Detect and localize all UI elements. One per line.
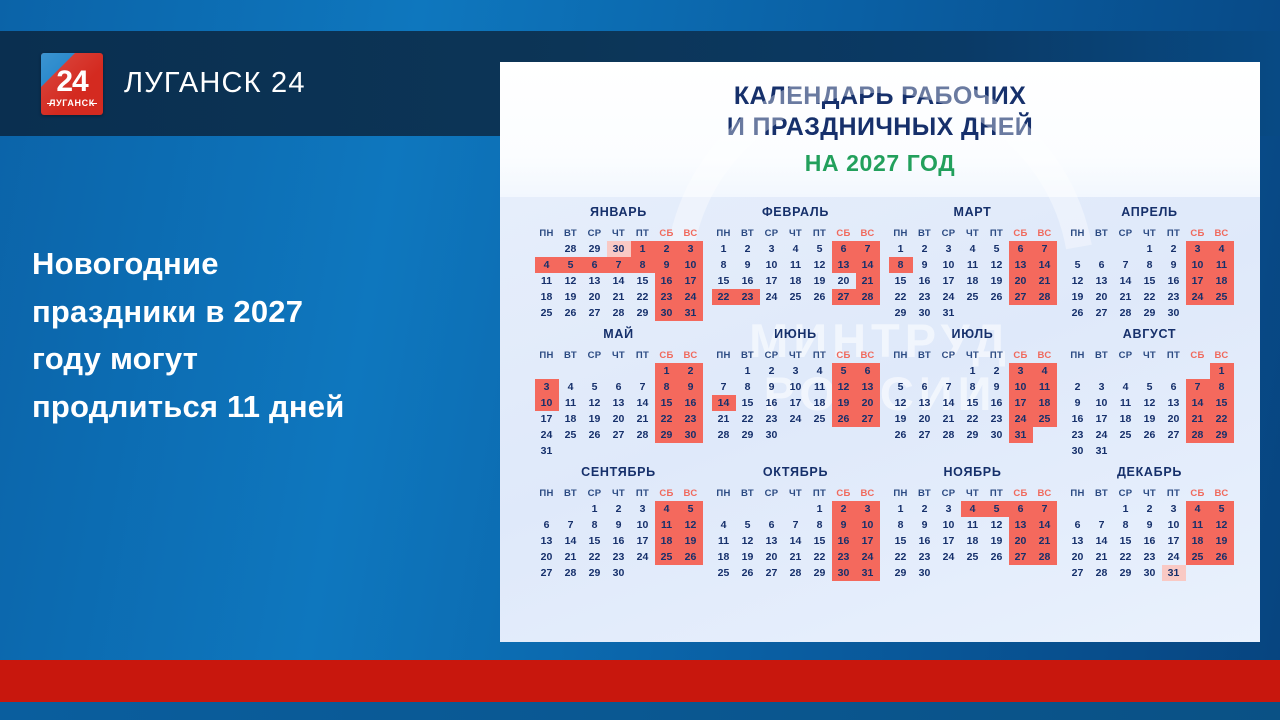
day-cell[interactable]: 27: [856, 411, 880, 427]
day-cell[interactable]: 14: [607, 273, 631, 289]
day-cell[interactable]: 19: [889, 411, 913, 427]
day-cell[interactable]: 27: [1009, 549, 1033, 565]
day-cell[interactable]: 23: [655, 289, 679, 305]
day-cell[interactable]: 9: [1162, 257, 1186, 273]
day-cell[interactable]: 17: [535, 411, 559, 427]
day-cell[interactable]: 21: [712, 411, 736, 427]
day-cell[interactable]: 28: [559, 241, 583, 257]
day-cell[interactable]: 20: [535, 549, 559, 565]
day-cell[interactable]: 13: [1009, 257, 1033, 273]
day-cell[interactable]: 13: [535, 533, 559, 549]
day-cell[interactable]: 2: [1138, 501, 1162, 517]
day-cell[interactable]: 10: [760, 257, 784, 273]
day-cell[interactable]: 18: [1033, 395, 1057, 411]
day-cell[interactable]: 21: [1033, 533, 1057, 549]
day-cell[interactable]: 30: [607, 241, 631, 257]
day-cell[interactable]: 7: [1033, 241, 1057, 257]
day-cell[interactable]: 5: [583, 379, 607, 395]
day-cell[interactable]: 30: [985, 427, 1009, 443]
day-cell[interactable]: 25: [655, 549, 679, 565]
day-cell[interactable]: 10: [1162, 517, 1186, 533]
day-cell[interactable]: 10: [1186, 257, 1210, 273]
day-cell[interactable]: 21: [856, 273, 880, 289]
day-cell[interactable]: 24: [1009, 411, 1033, 427]
day-cell[interactable]: 15: [1114, 533, 1138, 549]
day-cell[interactable]: 4: [808, 363, 832, 379]
day-cell[interactable]: 18: [784, 273, 808, 289]
day-cell[interactable]: 29: [1210, 427, 1234, 443]
day-cell[interactable]: 14: [1090, 533, 1114, 549]
day-cell[interactable]: 10: [937, 257, 961, 273]
day-cell[interactable]: 14: [712, 395, 736, 411]
day-cell[interactable]: 8: [736, 379, 760, 395]
day-cell[interactable]: 10: [679, 257, 703, 273]
day-cell[interactable]: 10: [937, 517, 961, 533]
day-cell[interactable]: 11: [655, 517, 679, 533]
day-cell[interactable]: 1: [889, 501, 913, 517]
day-cell[interactable]: 27: [1009, 289, 1033, 305]
day-cell[interactable]: 1: [808, 501, 832, 517]
day-cell[interactable]: 8: [655, 379, 679, 395]
day-cell[interactable]: 31: [1090, 443, 1114, 459]
day-cell[interactable]: 18: [1186, 533, 1210, 549]
day-cell[interactable]: 4: [712, 517, 736, 533]
day-cell[interactable]: 18: [1210, 273, 1234, 289]
day-cell[interactable]: 26: [583, 427, 607, 443]
day-cell[interactable]: 27: [535, 565, 559, 581]
day-cell[interactable]: 12: [736, 533, 760, 549]
day-cell[interactable]: 3: [1090, 379, 1114, 395]
day-cell[interactable]: 16: [736, 273, 760, 289]
day-cell[interactable]: 22: [583, 549, 607, 565]
day-cell[interactable]: 27: [913, 427, 937, 443]
day-cell[interactable]: 30: [607, 565, 631, 581]
day-cell[interactable]: 4: [1033, 363, 1057, 379]
day-cell[interactable]: 1: [889, 241, 913, 257]
day-cell[interactable]: 11: [961, 517, 985, 533]
day-cell[interactable]: 20: [1009, 533, 1033, 549]
day-cell[interactable]: 4: [1210, 241, 1234, 257]
day-cell[interactable]: 12: [1210, 517, 1234, 533]
day-cell[interactable]: 26: [1210, 549, 1234, 565]
day-cell[interactable]: 26: [1066, 305, 1090, 321]
day-cell[interactable]: 29: [631, 305, 655, 321]
day-cell[interactable]: 3: [535, 379, 559, 395]
day-cell[interactable]: 8: [583, 517, 607, 533]
day-cell[interactable]: 14: [1186, 395, 1210, 411]
day-cell[interactable]: 31: [679, 305, 703, 321]
day-cell[interactable]: 2: [679, 363, 703, 379]
day-cell[interactable]: 22: [712, 289, 736, 305]
day-cell[interactable]: 26: [985, 289, 1009, 305]
day-cell[interactable]: 27: [583, 305, 607, 321]
day-cell[interactable]: 26: [832, 411, 856, 427]
day-cell[interactable]: 16: [985, 395, 1009, 411]
day-cell[interactable]: 3: [1009, 363, 1033, 379]
day-cell[interactable]: 31: [1009, 427, 1033, 443]
day-cell[interactable]: 19: [1210, 533, 1234, 549]
day-cell[interactable]: 7: [784, 517, 808, 533]
day-cell[interactable]: 25: [808, 411, 832, 427]
day-cell[interactable]: 11: [712, 533, 736, 549]
day-cell[interactable]: 7: [1090, 517, 1114, 533]
day-cell[interactable]: 2: [655, 241, 679, 257]
day-cell[interactable]: 26: [808, 289, 832, 305]
day-cell[interactable]: 11: [1033, 379, 1057, 395]
day-cell[interactable]: 6: [1009, 501, 1033, 517]
day-cell[interactable]: 4: [784, 241, 808, 257]
day-cell[interactable]: 22: [808, 549, 832, 565]
day-cell[interactable]: 2: [913, 241, 937, 257]
day-cell[interactable]: 10: [856, 517, 880, 533]
day-cell[interactable]: 1: [1114, 501, 1138, 517]
day-cell[interactable]: 24: [1090, 427, 1114, 443]
day-cell[interactable]: 21: [559, 549, 583, 565]
day-cell[interactable]: 17: [1009, 395, 1033, 411]
day-cell[interactable]: 5: [832, 363, 856, 379]
day-cell[interactable]: 19: [985, 273, 1009, 289]
day-cell[interactable]: 15: [889, 533, 913, 549]
day-cell[interactable]: 4: [535, 257, 559, 273]
day-cell[interactable]: 31: [1162, 565, 1186, 581]
day-cell[interactable]: 18: [712, 549, 736, 565]
day-cell[interactable]: 12: [889, 395, 913, 411]
day-cell[interactable]: 16: [760, 395, 784, 411]
day-cell[interactable]: 23: [607, 549, 631, 565]
day-cell[interactable]: 17: [1162, 533, 1186, 549]
day-cell[interactable]: 27: [1066, 565, 1090, 581]
day-cell[interactable]: 9: [985, 379, 1009, 395]
day-cell[interactable]: 26: [889, 427, 913, 443]
day-cell[interactable]: 6: [607, 379, 631, 395]
day-cell[interactable]: 2: [736, 241, 760, 257]
day-cell[interactable]: 9: [679, 379, 703, 395]
day-cell[interactable]: 9: [760, 379, 784, 395]
day-cell[interactable]: 23: [1066, 427, 1090, 443]
day-cell[interactable]: 13: [760, 533, 784, 549]
day-cell[interactable]: 1: [631, 241, 655, 257]
day-cell[interactable]: 18: [961, 273, 985, 289]
day-cell[interactable]: 30: [679, 427, 703, 443]
day-cell[interactable]: 17: [1186, 273, 1210, 289]
day-cell[interactable]: 17: [856, 533, 880, 549]
day-cell[interactable]: 15: [961, 395, 985, 411]
day-cell[interactable]: 7: [631, 379, 655, 395]
day-cell[interactable]: 29: [1114, 565, 1138, 581]
day-cell[interactable]: 29: [808, 565, 832, 581]
day-cell[interactable]: 19: [583, 411, 607, 427]
day-cell[interactable]: 19: [1066, 289, 1090, 305]
day-cell[interactable]: 14: [856, 257, 880, 273]
day-cell[interactable]: 5: [1210, 501, 1234, 517]
day-cell[interactable]: 14: [631, 395, 655, 411]
day-cell[interactable]: 25: [1210, 289, 1234, 305]
day-cell[interactable]: 11: [535, 273, 559, 289]
day-cell[interactable]: 13: [832, 257, 856, 273]
day-cell[interactable]: 8: [961, 379, 985, 395]
day-cell[interactable]: 8: [712, 257, 736, 273]
day-cell[interactable]: 8: [889, 257, 913, 273]
day-cell[interactable]: 19: [736, 549, 760, 565]
day-cell[interactable]: 7: [1114, 257, 1138, 273]
day-cell[interactable]: 20: [856, 395, 880, 411]
day-cell[interactable]: 24: [856, 549, 880, 565]
day-cell[interactable]: 26: [736, 565, 760, 581]
day-cell[interactable]: 24: [631, 549, 655, 565]
day-cell[interactable]: 23: [679, 411, 703, 427]
day-cell[interactable]: 14: [1033, 517, 1057, 533]
day-cell[interactable]: 12: [583, 395, 607, 411]
day-cell[interactable]: 3: [784, 363, 808, 379]
day-cell[interactable]: 3: [1186, 241, 1210, 257]
day-cell[interactable]: 15: [712, 273, 736, 289]
day-cell[interactable]: 21: [1090, 549, 1114, 565]
day-cell[interactable]: 26: [985, 549, 1009, 565]
day-cell[interactable]: 25: [784, 289, 808, 305]
day-cell[interactable]: 16: [1162, 273, 1186, 289]
day-cell[interactable]: 12: [985, 517, 1009, 533]
day-cell[interactable]: 24: [937, 549, 961, 565]
day-cell[interactable]: 18: [655, 533, 679, 549]
day-cell[interactable]: 18: [1114, 411, 1138, 427]
day-cell[interactable]: 5: [889, 379, 913, 395]
day-cell[interactable]: 4: [1114, 379, 1138, 395]
day-cell[interactable]: 6: [1090, 257, 1114, 273]
day-cell[interactable]: 4: [961, 501, 985, 517]
day-cell[interactable]: 6: [535, 517, 559, 533]
day-cell[interactable]: 30: [1162, 305, 1186, 321]
day-cell[interactable]: 12: [808, 257, 832, 273]
day-cell[interactable]: 4: [961, 241, 985, 257]
day-cell[interactable]: 20: [1009, 273, 1033, 289]
day-cell[interactable]: 31: [856, 565, 880, 581]
day-cell[interactable]: 1: [712, 241, 736, 257]
day-cell[interactable]: 6: [1066, 517, 1090, 533]
day-cell[interactable]: 5: [736, 517, 760, 533]
day-cell[interactable]: 5: [1138, 379, 1162, 395]
day-cell[interactable]: 11: [784, 257, 808, 273]
day-cell[interactable]: 1: [1138, 241, 1162, 257]
day-cell[interactable]: 20: [913, 411, 937, 427]
day-cell[interactable]: 4: [655, 501, 679, 517]
day-cell[interactable]: 5: [808, 241, 832, 257]
day-cell[interactable]: 17: [937, 533, 961, 549]
day-cell[interactable]: 10: [535, 395, 559, 411]
day-cell[interactable]: 30: [1066, 443, 1090, 459]
day-cell[interactable]: 13: [1066, 533, 1090, 549]
day-cell[interactable]: 31: [535, 443, 559, 459]
day-cell[interactable]: 7: [1186, 379, 1210, 395]
day-cell[interactable]: 22: [631, 289, 655, 305]
day-cell[interactable]: 23: [736, 289, 760, 305]
day-cell[interactable]: 6: [856, 363, 880, 379]
day-cell[interactable]: 5: [985, 241, 1009, 257]
day-cell[interactable]: 7: [559, 517, 583, 533]
day-cell[interactable]: 3: [760, 241, 784, 257]
day-cell[interactable]: 27: [760, 565, 784, 581]
day-cell[interactable]: 3: [679, 241, 703, 257]
day-cell[interactable]: 23: [985, 411, 1009, 427]
day-cell[interactable]: 29: [1138, 305, 1162, 321]
day-cell[interactable]: 15: [655, 395, 679, 411]
day-cell[interactable]: 8: [1210, 379, 1234, 395]
day-cell[interactable]: 9: [655, 257, 679, 273]
day-cell[interactable]: 6: [583, 257, 607, 273]
day-cell[interactable]: 25: [535, 305, 559, 321]
day-cell[interactable]: 22: [655, 411, 679, 427]
day-cell[interactable]: 2: [985, 363, 1009, 379]
day-cell[interactable]: 17: [631, 533, 655, 549]
day-cell[interactable]: 15: [583, 533, 607, 549]
day-cell[interactable]: 18: [535, 289, 559, 305]
day-cell[interactable]: 24: [1186, 289, 1210, 305]
day-cell[interactable]: 14: [937, 395, 961, 411]
day-cell[interactable]: 14: [1033, 257, 1057, 273]
day-cell[interactable]: 1: [961, 363, 985, 379]
day-cell[interactable]: 11: [1210, 257, 1234, 273]
day-cell[interactable]: 20: [1090, 289, 1114, 305]
day-cell[interactable]: 21: [937, 411, 961, 427]
day-cell[interactable]: 27: [1162, 427, 1186, 443]
day-cell[interactable]: 24: [679, 289, 703, 305]
day-cell[interactable]: 3: [1162, 501, 1186, 517]
day-cell[interactable]: 9: [832, 517, 856, 533]
day-cell[interactable]: 22: [889, 549, 913, 565]
day-cell[interactable]: 3: [937, 241, 961, 257]
day-cell[interactable]: 23: [1138, 549, 1162, 565]
day-cell[interactable]: 31: [937, 305, 961, 321]
day-cell[interactable]: 12: [1138, 395, 1162, 411]
day-cell[interactable]: 28: [1090, 565, 1114, 581]
day-cell[interactable]: 16: [832, 533, 856, 549]
day-cell[interactable]: 3: [937, 501, 961, 517]
day-cell[interactable]: 13: [1009, 517, 1033, 533]
day-cell[interactable]: 9: [736, 257, 760, 273]
day-cell[interactable]: 30: [832, 565, 856, 581]
day-cell[interactable]: 16: [679, 395, 703, 411]
day-cell[interactable]: 25: [1114, 427, 1138, 443]
day-cell[interactable]: 16: [655, 273, 679, 289]
day-cell[interactable]: 27: [607, 427, 631, 443]
day-cell[interactable]: 20: [1066, 549, 1090, 565]
day-cell[interactable]: 24: [760, 289, 784, 305]
day-cell[interactable]: 25: [1033, 411, 1057, 427]
day-cell[interactable]: 29: [583, 241, 607, 257]
day-cell[interactable]: 28: [607, 305, 631, 321]
day-cell[interactable]: 7: [856, 241, 880, 257]
day-cell[interactable]: 1: [583, 501, 607, 517]
day-cell[interactable]: 9: [913, 517, 937, 533]
day-cell[interactable]: 29: [655, 427, 679, 443]
day-cell[interactable]: 13: [1162, 395, 1186, 411]
day-cell[interactable]: 8: [808, 517, 832, 533]
day-cell[interactable]: 28: [1114, 305, 1138, 321]
day-cell[interactable]: 11: [961, 257, 985, 273]
day-cell[interactable]: 7: [607, 257, 631, 273]
day-cell[interactable]: 22: [1114, 549, 1138, 565]
day-cell[interactable]: 13: [1090, 273, 1114, 289]
day-cell[interactable]: 24: [784, 411, 808, 427]
day-cell[interactable]: 21: [631, 411, 655, 427]
day-cell[interactable]: 12: [679, 517, 703, 533]
day-cell[interactable]: 2: [913, 501, 937, 517]
day-cell[interactable]: 5: [679, 501, 703, 517]
day-cell[interactable]: 15: [808, 533, 832, 549]
day-cell[interactable]: 27: [1090, 305, 1114, 321]
day-cell[interactable]: 14: [1114, 273, 1138, 289]
day-cell[interactable]: 20: [607, 411, 631, 427]
day-cell[interactable]: 20: [1162, 411, 1186, 427]
day-cell[interactable]: 25: [961, 549, 985, 565]
day-cell[interactable]: 16: [913, 533, 937, 549]
day-cell[interactable]: 1: [1210, 363, 1234, 379]
day-cell[interactable]: 28: [1033, 289, 1057, 305]
day-cell[interactable]: 29: [736, 427, 760, 443]
day-cell[interactable]: 12: [559, 273, 583, 289]
day-cell[interactable]: 12: [832, 379, 856, 395]
day-cell[interactable]: 14: [559, 533, 583, 549]
day-cell[interactable]: 24: [937, 289, 961, 305]
day-cell[interactable]: 27: [832, 289, 856, 305]
day-cell[interactable]: 8: [889, 517, 913, 533]
day-cell[interactable]: 7: [1033, 501, 1057, 517]
day-cell[interactable]: 25: [1186, 549, 1210, 565]
day-cell[interactable]: 26: [559, 305, 583, 321]
day-cell[interactable]: 17: [679, 273, 703, 289]
day-cell[interactable]: 13: [913, 395, 937, 411]
day-cell[interactable]: 6: [1009, 241, 1033, 257]
day-cell[interactable]: 30: [913, 305, 937, 321]
day-cell[interactable]: 1: [655, 363, 679, 379]
day-cell[interactable]: 10: [1009, 379, 1033, 395]
day-cell[interactable]: 18: [559, 411, 583, 427]
day-cell[interactable]: 29: [889, 565, 913, 581]
day-cell[interactable]: 21: [784, 549, 808, 565]
day-cell[interactable]: 26: [1138, 427, 1162, 443]
day-cell[interactable]: 4: [1186, 501, 1210, 517]
day-cell[interactable]: 18: [961, 533, 985, 549]
day-cell[interactable]: 11: [1114, 395, 1138, 411]
day-cell[interactable]: 21: [1114, 289, 1138, 305]
day-cell[interactable]: 11: [1186, 517, 1210, 533]
day-cell[interactable]: 28: [712, 427, 736, 443]
day-cell[interactable]: 28: [631, 427, 655, 443]
day-cell[interactable]: 20: [760, 549, 784, 565]
day-cell[interactable]: 6: [913, 379, 937, 395]
day-cell[interactable]: 30: [1138, 565, 1162, 581]
day-cell[interactable]: 3: [856, 501, 880, 517]
day-cell[interactable]: 23: [913, 549, 937, 565]
day-cell[interactable]: 22: [1210, 411, 1234, 427]
day-cell[interactable]: 8: [1138, 257, 1162, 273]
day-cell[interactable]: 29: [961, 427, 985, 443]
day-cell[interactable]: 5: [559, 257, 583, 273]
day-cell[interactable]: 17: [784, 395, 808, 411]
day-cell[interactable]: 17: [760, 273, 784, 289]
day-cell[interactable]: 13: [583, 273, 607, 289]
day-cell[interactable]: 7: [712, 379, 736, 395]
day-cell[interactable]: 28: [1186, 427, 1210, 443]
day-cell[interactable]: 25: [712, 565, 736, 581]
day-cell[interactable]: 16: [607, 533, 631, 549]
day-cell[interactable]: 8: [631, 257, 655, 273]
day-cell[interactable]: 20: [832, 273, 856, 289]
day-cell[interactable]: 24: [1162, 549, 1186, 565]
day-cell[interactable]: 23: [760, 411, 784, 427]
day-cell[interactable]: 28: [1033, 549, 1057, 565]
day-cell[interactable]: 17: [1090, 411, 1114, 427]
day-cell[interactable]: 21: [1033, 273, 1057, 289]
